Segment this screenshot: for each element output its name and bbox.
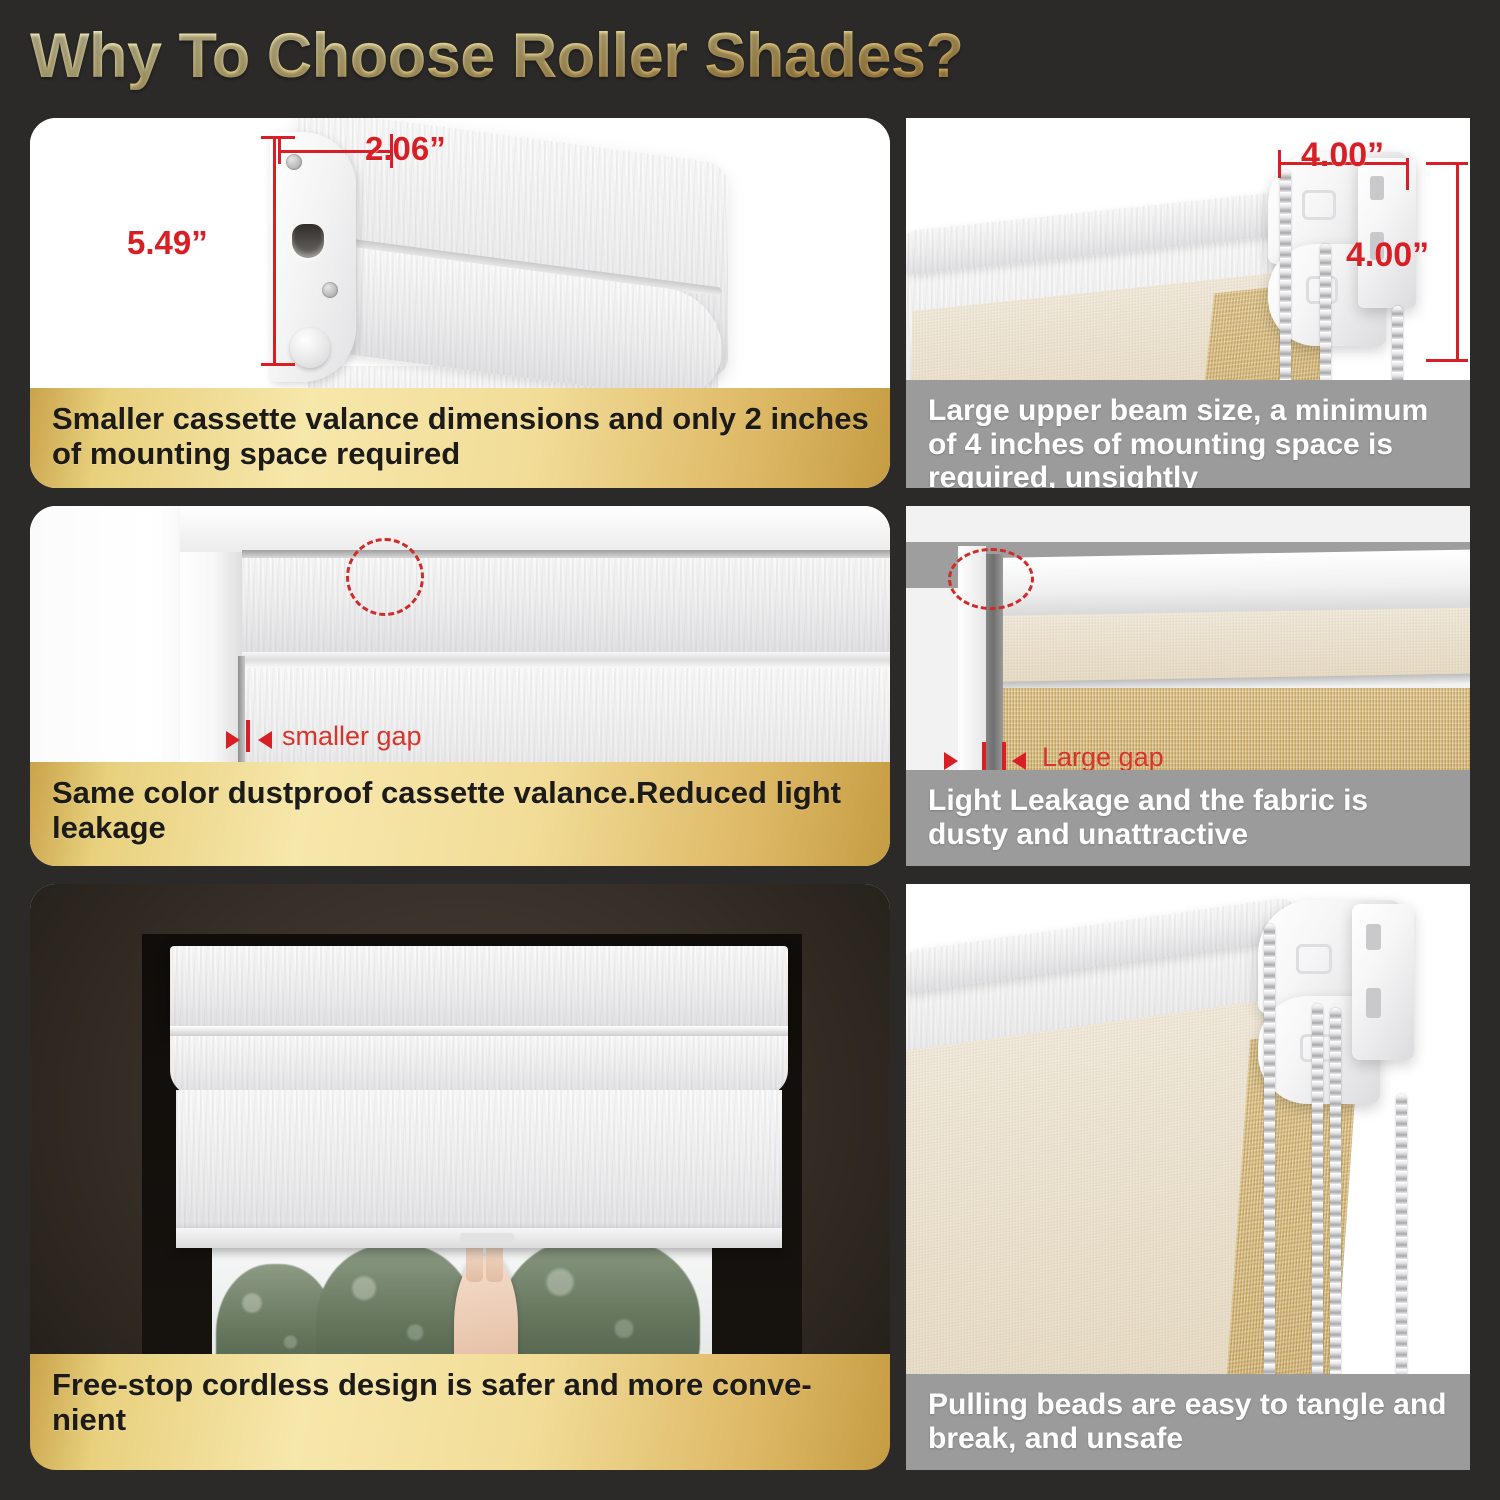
gap-marker: [982, 742, 986, 772]
pull-chain: [1396, 1094, 1407, 1384]
gap-arrow-left-icon: [1012, 752, 1026, 770]
valance-rail: [242, 550, 890, 558]
endcap-knob-icon: [290, 328, 330, 368]
shade-upper-panel: [242, 552, 890, 652]
panel-good-dustproof: smaller gap Same color dustproof cassett…: [30, 506, 890, 866]
height-dimension-label: 4.00”: [1346, 236, 1429, 275]
pull-chain: [1264, 924, 1275, 1384]
width-dimension-label: 2.06”: [365, 130, 446, 168]
caption-good-dustproof: Same color dustproof cassette valance.Re…: [30, 762, 890, 866]
pull-chain: [1330, 1008, 1341, 1384]
caption-good-cordless: Free-stop cordless design is safer and m…: [30, 1354, 890, 1470]
height-dim-line: [1456, 162, 1459, 362]
width-dim-tick-left: [278, 138, 281, 164]
gap-label-smaller: smaller gap: [282, 721, 422, 752]
caption-bad-upper-beam: Large upper beam size, a minimum of 4 in…: [906, 380, 1470, 488]
height-dim-tick-bottom: [1426, 359, 1468, 362]
height-dimension-label: 5.49”: [127, 224, 208, 262]
infographic-root: Why To Choose Roller Shades? 2.06”: [0, 0, 1500, 1500]
cassette-end-cap: [270, 132, 356, 382]
valance-lip: [170, 1026, 788, 1036]
height-dim-line: [273, 136, 276, 366]
shade-grip-handle: [460, 1233, 514, 1242]
valance-divider: [242, 652, 890, 668]
screw-icon: [322, 282, 338, 298]
gap-label-large: Large gap: [1042, 742, 1164, 773]
bracket-slot-icon: [1366, 924, 1381, 950]
endcap-slot-icon: [292, 224, 324, 258]
bracket-side-plate: [1352, 904, 1414, 1060]
width-dim-tick-left: [1278, 150, 1281, 178]
valance-lower-band: [170, 1036, 788, 1096]
bracket-emboss-icon: [1302, 190, 1336, 220]
screw-icon: [286, 154, 302, 170]
bracket-slot-icon: [1370, 176, 1384, 200]
bracket-slot-icon: [1366, 988, 1381, 1018]
width-dimension-label: 4.00”: [1301, 136, 1384, 175]
gap-arrow-left-icon: [258, 731, 272, 749]
panel-bad-pull-beads: Pulling beads are easy to tangle and bre…: [906, 884, 1470, 1470]
caption-bad-pull-beads: Pulling beads are easy to tangle and bre…: [906, 1374, 1470, 1470]
gap-arrow-right-icon: [944, 752, 958, 770]
shade-fabric: [176, 1090, 782, 1240]
gap-marker: [246, 720, 250, 752]
pull-chain: [1312, 1004, 1323, 1384]
caption-bad-light-leakage: Light Leakage and the fabric is dusty an…: [906, 770, 1470, 866]
bracket-emboss-icon: [1296, 944, 1332, 974]
highlight-circle: [948, 548, 1034, 610]
page-title: Why To Choose Roller Shades?: [30, 20, 963, 92]
panel-bad-light-leakage: Large gap Light Leakage and the fabric i…: [906, 506, 1470, 866]
cassette-valance: [170, 946, 788, 1028]
panel-good-cassette: 2.06” 5.49” Smaller cassette valance dim…: [30, 118, 890, 488]
highlight-circle: [346, 538, 424, 616]
gap-marker: [1002, 742, 1006, 772]
height-dim-tick-top: [261, 136, 295, 139]
gap-arrow-right-icon: [226, 731, 240, 749]
caption-good-cassette: Smaller cassette valance dimensions and …: [30, 388, 890, 488]
width-dim-tick-right: [1406, 158, 1409, 190]
height-dim-tick-top: [1426, 162, 1468, 165]
panel-bad-upper-beam: 4.00” 4.00” Large upper beam size, a min…: [906, 118, 1470, 488]
height-dim-tick-bottom: [261, 363, 295, 366]
window-head: [180, 506, 890, 552]
panel-good-cordless: Free-stop cordless design is safer and m…: [30, 884, 890, 1470]
